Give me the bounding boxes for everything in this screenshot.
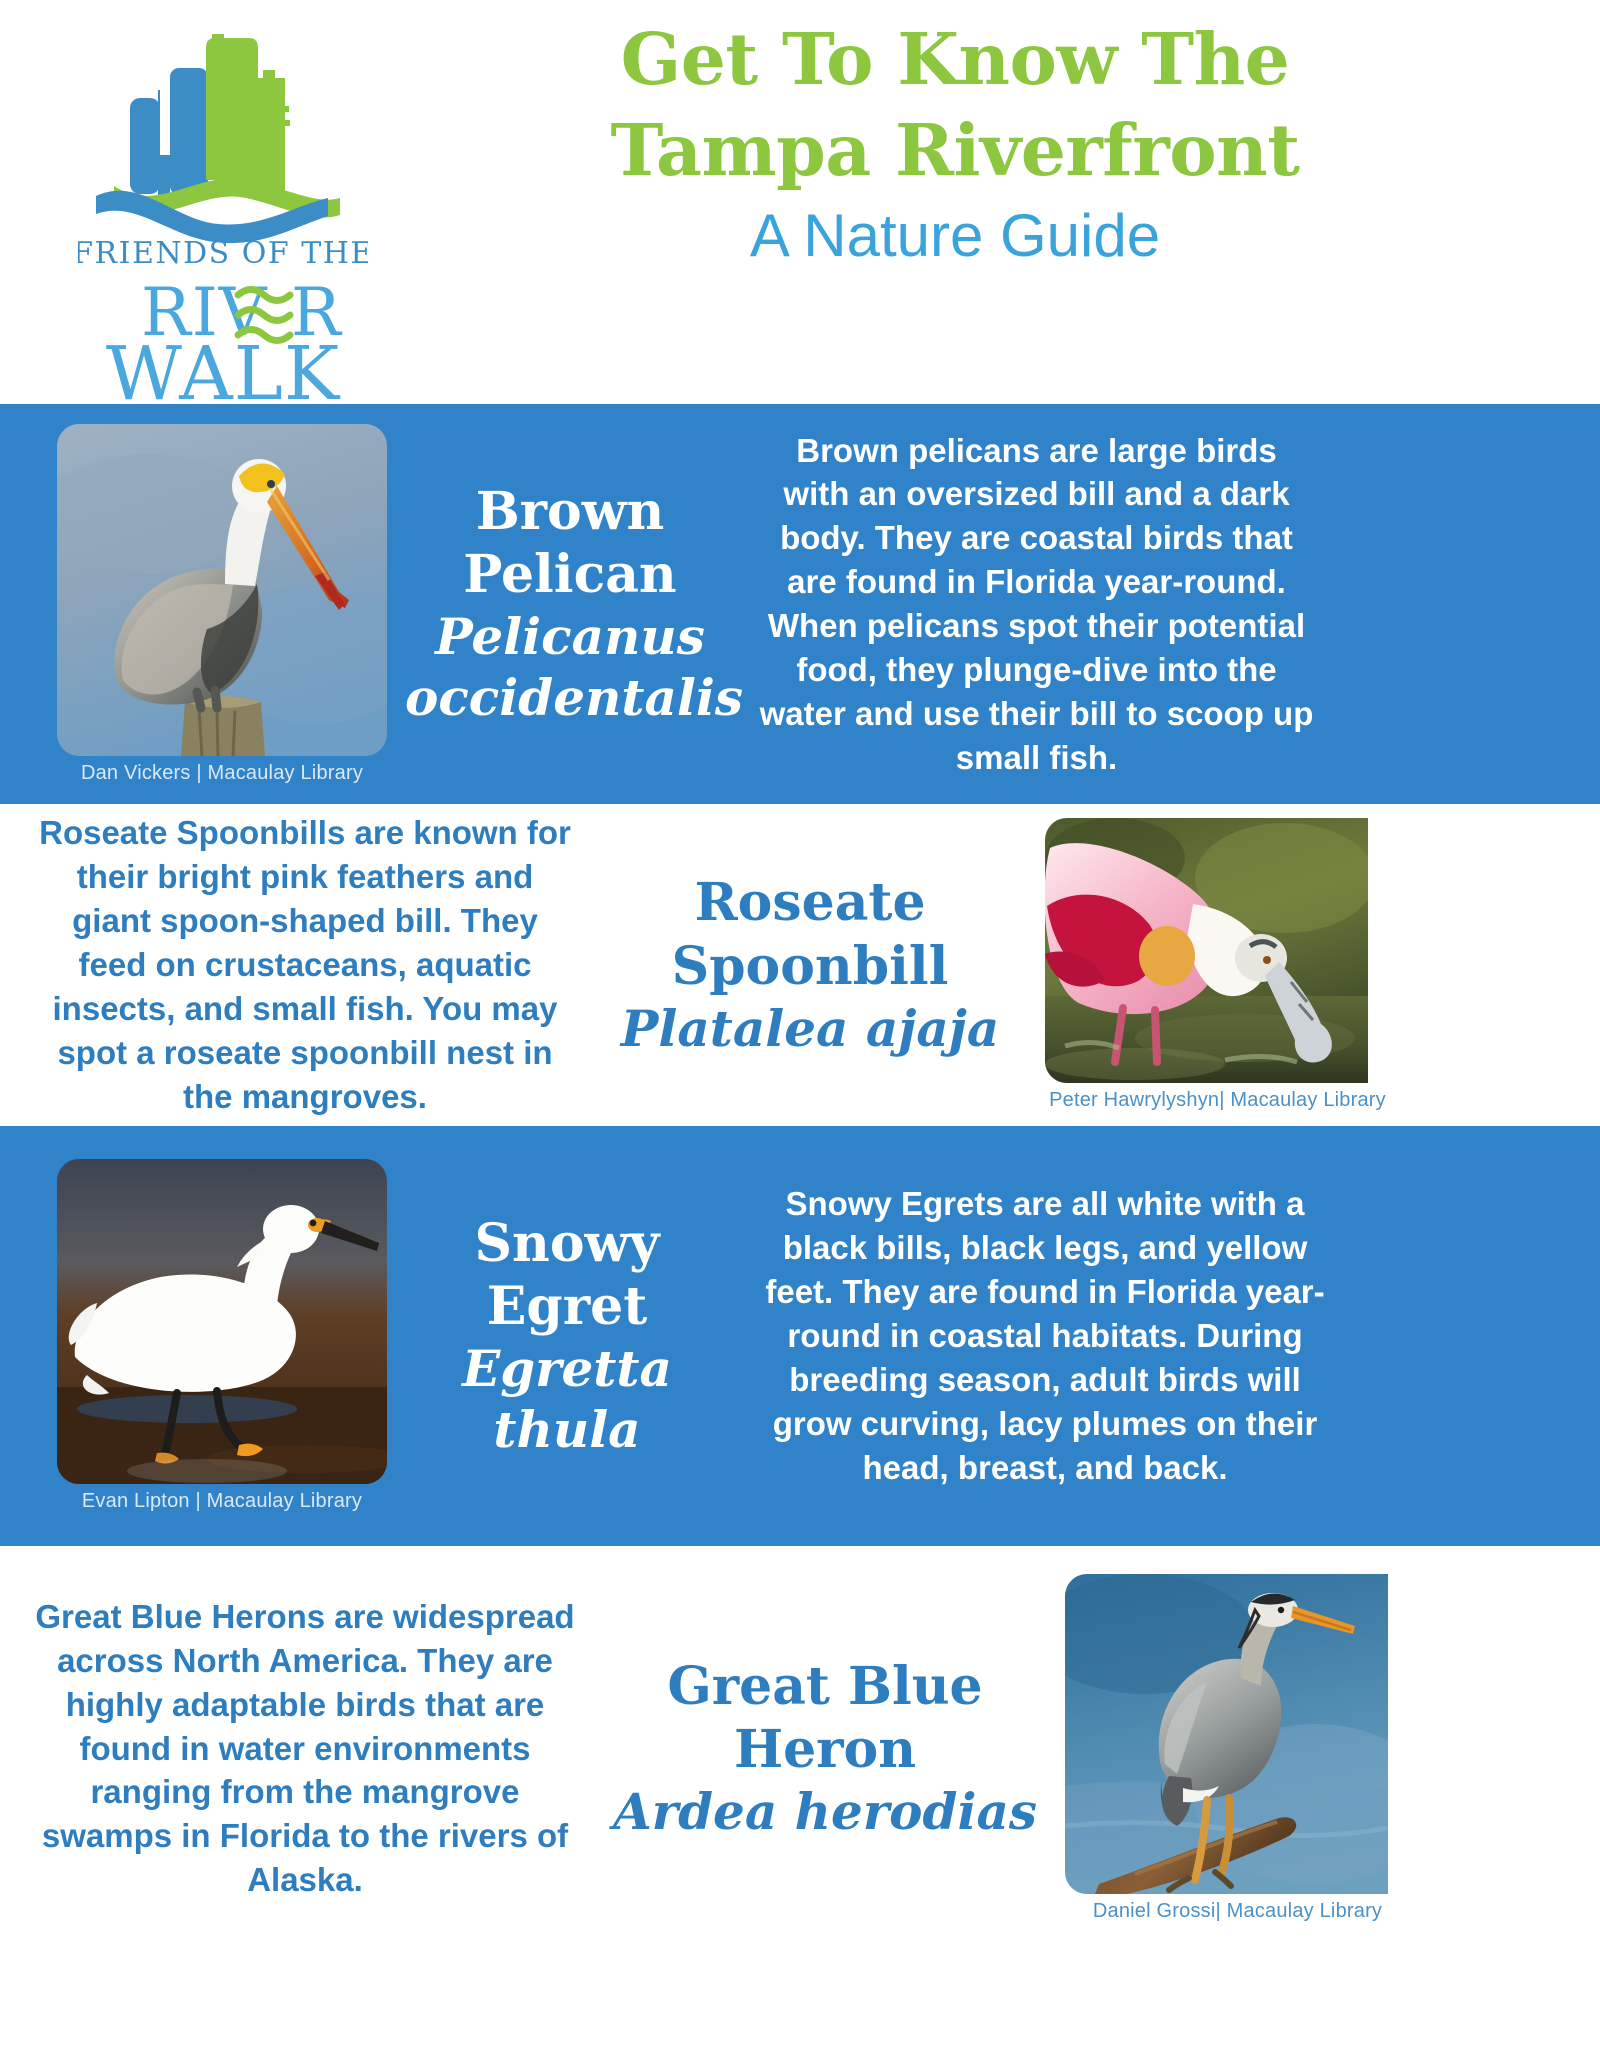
great-blue-heron-photo-credit: Daniel Grossi| Macaulay Library — [1065, 1900, 1410, 1923]
brown-pelican-photo — [57, 424, 387, 756]
logo-text-friends-of-the: FRIENDS OF THE — [78, 236, 368, 271]
roseate-spoonbill-photo-credit: Peter Hawrylyshyn| Macaulay Library — [1045, 1089, 1390, 1112]
snowy-egret-photo-credit: Evan Lipton | Macaulay Library — [57, 1490, 387, 1513]
brown-pelican-scientific-name-line2: occidentalis — [405, 667, 735, 728]
roseate-spoonbill-photo-card: Peter Hawrylyshyn| Macaulay Library — [1045, 818, 1390, 1112]
snowy-egret-scientific-name: Egretta thula — [397, 1338, 737, 1460]
nature-guide-page: FRIENDS OF THE RIV R WALK Get To Know Th… — [0, 0, 1600, 2071]
great-blue-heron-photo-card: Daniel Grossi| Macaulay Library — [1065, 1574, 1410, 1923]
section-roseate-spoonbill: Roseate Spoonbills are known for their b… — [0, 804, 1600, 1126]
great-blue-heron-photo — [1065, 1574, 1410, 1894]
page-subtitle: A Nature Guide — [390, 202, 1520, 269]
section-snowy-egret: Evan Lipton | Macaulay Library Snowy Egr… — [0, 1126, 1600, 1546]
roseate-spoonbill-photo — [1045, 818, 1390, 1083]
snowy-egret-common-name: Snowy Egret — [397, 1212, 737, 1339]
snowy-egret-photo-card: Evan Lipton | Macaulay Library — [57, 1159, 387, 1513]
section-great-blue-heron: Great Blue Herons are widespread across … — [0, 1546, 1600, 1951]
brown-pelican-common-name: Brown Pelican — [405, 480, 735, 607]
great-blue-heron-names: Great Blue Heron Ardea herodias — [605, 1655, 1045, 1843]
brown-pelican-names: Brown Pelican Pelicanus occidentalis — [405, 480, 735, 729]
snowy-egret-description: Snowy Egrets are all white with a black … — [755, 1182, 1335, 1489]
great-blue-heron-description: Great Blue Herons are widespread across … — [35, 1595, 575, 1902]
title-line-2: Tampa Riverfront — [390, 105, 1520, 196]
brown-pelican-description: Brown pelicans are large birds with an o… — [759, 429, 1314, 780]
snowy-egret-names: Snowy Egret Egretta thula — [397, 1212, 737, 1461]
roseate-spoonbill-names: Roseate Spoonbill Platalea ajaja — [610, 871, 1010, 1059]
great-blue-heron-common-name: Great Blue Heron — [605, 1655, 1045, 1782]
title-line-1: Get To Know The — [390, 14, 1520, 105]
page-title: Get To Know The Tampa Riverfront A Natur… — [390, 14, 1520, 269]
page-header: FRIENDS OF THE RIV R WALK Get To Know Th… — [0, 0, 1600, 404]
logo-text-walk: WALK — [106, 331, 341, 400]
friends-of-the-riverwalk-logo: FRIENDS OF THE RIV R WALK — [78, 10, 368, 400]
brown-pelican-photo-credit: Dan Vickers | Macaulay Library — [57, 762, 387, 785]
roseate-spoonbill-description: Roseate Spoonbills are known for their b… — [35, 811, 575, 1118]
brown-pelican-scientific-name-line1: Pelicanus — [405, 606, 735, 667]
roseate-spoonbill-scientific-name: Platalea ajaja — [610, 998, 1010, 1059]
roseate-spoonbill-common-name-line2: Spoonbill — [610, 935, 1010, 998]
roseate-spoonbill-common-name-line1: Roseate — [610, 871, 1010, 934]
section-brown-pelican: Dan Vickers | Macaulay Library Brown Pel… — [0, 404, 1600, 804]
logo-svg: FRIENDS OF THE RIV R WALK — [78, 10, 368, 400]
great-blue-heron-scientific-name: Ardea herodias — [605, 1781, 1045, 1842]
snowy-egret-photo — [57, 1159, 387, 1484]
brown-pelican-photo-card: Dan Vickers | Macaulay Library — [57, 424, 387, 785]
